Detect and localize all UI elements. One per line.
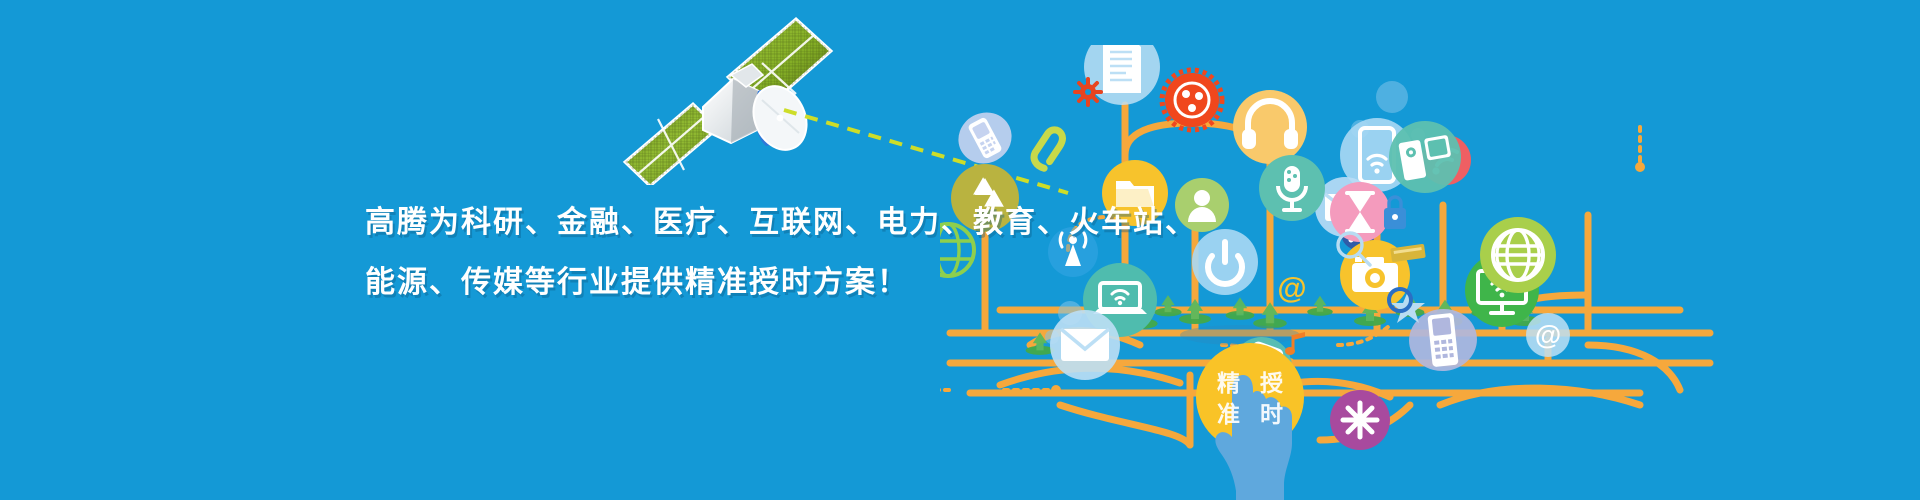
gear-small-icon [1075,79,1101,105]
headline-line-2: 能源、传媒等行业提供精准授时方案！ [365,253,1085,313]
envelope-large-icon [1050,310,1120,380]
svg-text:@: @ [1535,320,1561,350]
at-circle-icon: @ [1526,313,1570,357]
headline-text: 高腾为科研、金融、医疗、互联网、电力、教育、火车站、 能源、传媒等行业提供精准授… [365,193,1085,313]
smartphone-wifi-icon [949,103,1020,172]
document-icon [1084,45,1160,105]
globe-grid-icon [1480,217,1556,293]
at-sign-icon: @ [1277,272,1306,305]
microphone-icon [1259,155,1325,221]
paperclip-icon [1026,127,1072,170]
svg-text:@: @ [1277,272,1306,305]
power-button-icon [1192,229,1258,295]
hero-banner: @ [0,0,1920,500]
hourglass-icon [1330,182,1390,242]
headline-line-1: 高腾为科研、金融、医疗、互联网、电力、教育、火车站、 [365,206,1197,239]
sticky-note-icon [1390,244,1426,263]
asterisk-icon [1330,390,1390,450]
headphones-icon [1233,90,1307,164]
